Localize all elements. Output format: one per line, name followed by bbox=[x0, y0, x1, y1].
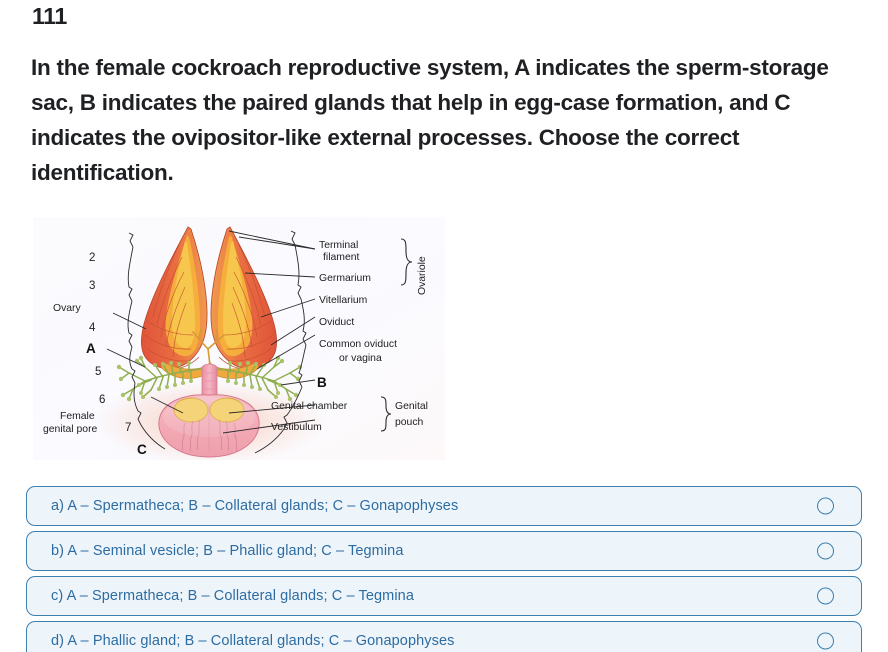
option-c-radio[interactable] bbox=[817, 588, 834, 605]
label-num-3: 3 bbox=[89, 280, 95, 292]
question-text: In the female cockroach reproductive sys… bbox=[31, 50, 863, 190]
cockroach-reproductive-system-figure: Terminal filament Germarium Vitellarium … bbox=[33, 217, 445, 460]
label-C: C bbox=[137, 442, 147, 457]
option-b-label: b) A – Seminal vesicle; B – Phallic glan… bbox=[51, 543, 404, 559]
option-d[interactable]: d) A – Phallic gland; B – Collateral gla… bbox=[26, 621, 862, 652]
label-common-oviduct-line2: or vagina bbox=[339, 353, 382, 364]
label-common-oviduct-line1: Common oviduct bbox=[319, 339, 397, 350]
label-genital-chamber: Genital chamber bbox=[271, 401, 348, 412]
label-vitellarium: Vitellarium bbox=[319, 295, 367, 306]
label-num-7: 7 bbox=[125, 422, 131, 434]
label-num-2: 2 bbox=[89, 252, 95, 264]
option-d-label: d) A – Phallic gland; B – Collateral gla… bbox=[51, 633, 454, 649]
label-num-4: 4 bbox=[89, 322, 96, 334]
option-c[interactable]: c) A – Spermatheca; B – Collateral gland… bbox=[26, 576, 862, 616]
label-num-6: 6 bbox=[99, 394, 105, 406]
label-terminal-filament-line2: filament bbox=[323, 252, 359, 263]
label-genital-pouch-line2: pouch bbox=[395, 417, 424, 428]
option-c-label: c) A – Spermatheca; B – Collateral gland… bbox=[51, 588, 414, 604]
label-oviduct: Oviduct bbox=[319, 317, 354, 328]
option-b[interactable]: b) A – Seminal vesicle; B – Phallic glan… bbox=[26, 531, 862, 571]
label-A: A bbox=[86, 341, 96, 356]
answer-options-list: a) A – Spermatheca; B – Collateral gland… bbox=[26, 486, 862, 652]
question-page: 111 In the female cockroach reproductive… bbox=[0, 0, 888, 652]
option-a-radio[interactable] bbox=[817, 498, 834, 515]
label-ovariole: Ovariole bbox=[417, 256, 428, 295]
label-germarium: Germarium bbox=[319, 273, 371, 284]
option-a-label: a) A – Spermatheca; B – Collateral gland… bbox=[51, 498, 458, 514]
genital-pouch bbox=[159, 395, 259, 457]
option-a[interactable]: a) A – Spermatheca; B – Collateral gland… bbox=[26, 486, 862, 526]
option-d-radio[interactable] bbox=[817, 633, 834, 650]
label-ovary: Ovary bbox=[53, 303, 82, 314]
question-number: 111 bbox=[32, 3, 67, 30]
option-b-radio[interactable] bbox=[817, 543, 834, 560]
label-B: B bbox=[317, 375, 327, 390]
label-female-genital-pore-line2: genital pore bbox=[43, 424, 98, 435]
label-genital-pouch-line1: Genital bbox=[395, 401, 428, 412]
label-vestibulum: Vestibulum bbox=[271, 422, 322, 433]
label-terminal-filament-line1: Terminal bbox=[319, 240, 358, 251]
label-female-genital-pore-line1: Female bbox=[60, 411, 95, 422]
label-num-5: 5 bbox=[95, 366, 101, 378]
